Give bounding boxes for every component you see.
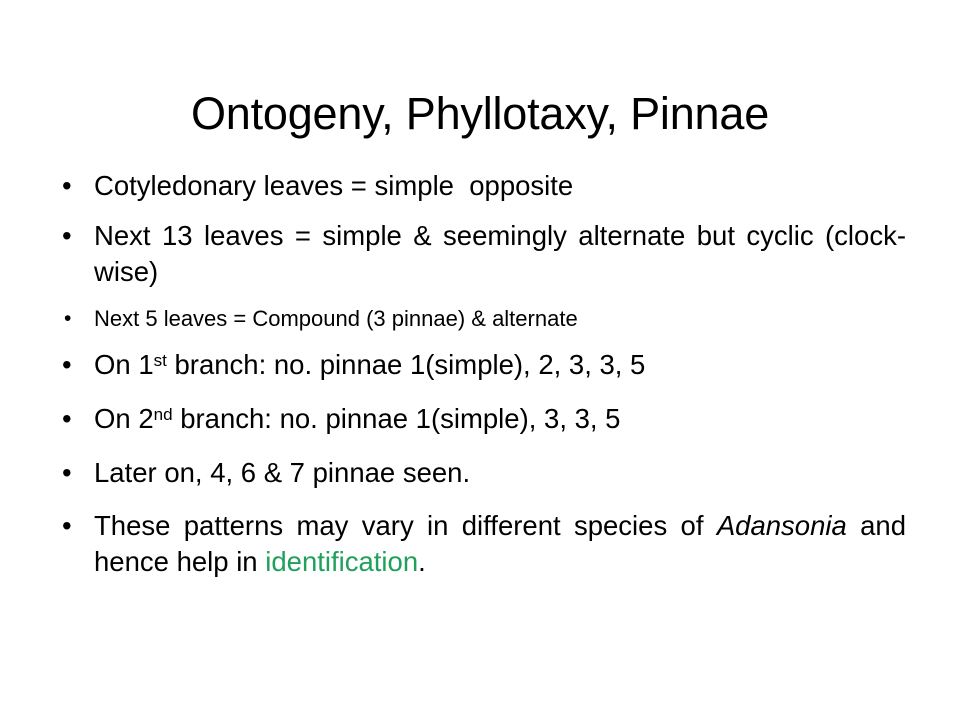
text-segment-lead: On 1	[94, 349, 154, 380]
page-title: Ontogeny, Phyllotaxy, Pinnae	[48, 88, 912, 140]
text-segment-lead: On 2	[94, 403, 154, 434]
list-item-next-13-leaves: • Next 13 leaves = simple & seemingly al…	[60, 218, 906, 290]
list-item-text: Next 5 leaves = Compound (3 pinnae) & al…	[94, 304, 906, 334]
bullet-point-icon: •	[64, 304, 82, 334]
text-segment-1: These patterns may vary in different spe…	[94, 510, 717, 541]
list-item-first-branch-pinnae: • On 1st branch: no. pinnae 1(simple), 2…	[60, 347, 906, 387]
highlighted-term: identification	[265, 546, 418, 577]
list-item-text: On 2nd branch: no. pinnae 1(simple), 3, …	[94, 401, 906, 441]
superscript-ordinal: st	[154, 351, 167, 370]
bullet-point-icon: •	[62, 218, 80, 254]
list-item-cotyledonary-leaves: • Cotyledonary leaves = simple opposite	[60, 168, 906, 204]
bullet-point-icon: •	[62, 401, 80, 437]
list-item-species-variation: • These patterns may vary in different s…	[60, 508, 906, 580]
text-segment-tail: branch: no. pinnae 1(simple), 2, 3, 3, 5	[167, 349, 645, 380]
list-item-later-pinnae: • Later on, 4, 6 & 7 pinnae seen.	[60, 455, 906, 491]
bullet-point-icon: •	[62, 455, 80, 491]
list-item-second-branch-pinnae: • On 2nd branch: no. pinnae 1(simple), 3…	[60, 401, 906, 441]
list-item-text: Next 13 leaves = simple & seemingly alte…	[94, 218, 906, 290]
genus-name-italic: Adansonia	[717, 510, 847, 541]
bullet-point-icon: •	[62, 168, 80, 204]
slide-canvas: Ontogeny, Phyllotaxy, Pinnae • Cotyledon…	[0, 0, 960, 720]
list-item-text: These patterns may vary in different spe…	[94, 508, 906, 580]
bullet-list: • Cotyledonary leaves = simple opposite …	[60, 168, 906, 580]
list-item-next-5-leaves: • Next 5 leaves = Compound (3 pinnae) & …	[60, 304, 906, 334]
bullet-point-icon: •	[62, 347, 80, 383]
list-item-text: Cotyledonary leaves = simple opposite	[94, 168, 906, 204]
superscript-ordinal: nd	[154, 405, 173, 424]
text-segment-3: .	[418, 546, 426, 577]
text-segment-tail: branch: no. pinnae 1(simple), 3, 3, 5	[173, 403, 621, 434]
bullet-point-icon: •	[62, 508, 80, 544]
list-item-text: On 1st branch: no. pinnae 1(simple), 2, …	[94, 347, 906, 387]
list-item-text: Later on, 4, 6 & 7 pinnae seen.	[94, 455, 906, 491]
